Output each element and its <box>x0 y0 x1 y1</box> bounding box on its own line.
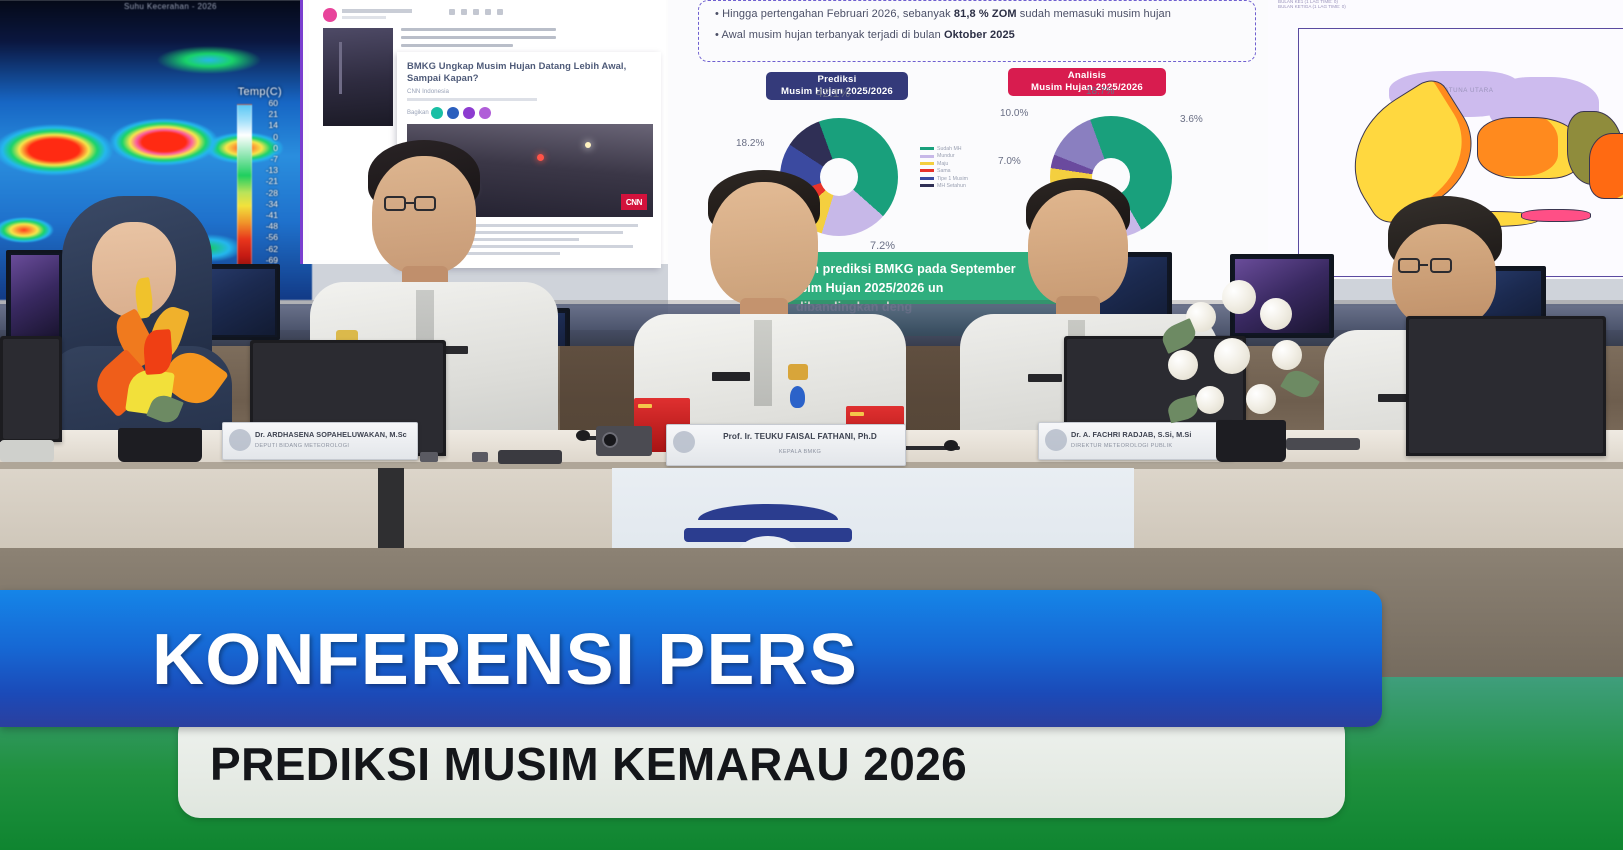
temperature-tick: -28 <box>254 188 278 199</box>
temperature-tick: -62 <box>254 244 278 255</box>
lapel-pin <box>790 386 805 408</box>
satellite-legend-title: Temp(C) <box>238 86 282 98</box>
legend-item: Sudah MH <box>920 146 968 153</box>
tablet-device[interactable] <box>1286 438 1360 450</box>
summary-bullet-1: • Hingga pertengahan Februari 2026, seba… <box>715 7 1255 22</box>
temperature-tick-labels: 60211400-7-13-21-28-34-41-48-56-62-69-75 <box>254 98 278 277</box>
article-headline: BMKG Ungkap Musim Hujan Datang Lebih Awa… <box>407 60 653 84</box>
legend-item: Maju <box>920 161 968 168</box>
back-monitor-1 <box>6 250 64 342</box>
rank-insignia <box>788 364 808 380</box>
water-glass <box>0 440 54 462</box>
eyeglasses-icon <box>1398 258 1484 274</box>
temperature-tick: -41 <box>254 210 278 221</box>
news-date-line <box>342 16 386 19</box>
name-badge <box>712 372 750 381</box>
name-badge <box>1028 374 1062 382</box>
nameplate-1: Dr. ARDHASENA SOPAHELUWAKAN, M.Sc DEPUTI… <box>222 422 418 460</box>
nameplate-3-role: DIREKTUR METEOROLOGI PUBLIK <box>1071 443 1229 449</box>
island-kalimantan <box>1477 117 1581 179</box>
bmkg-seal-icon <box>1045 429 1067 451</box>
temperature-tick: -21 <box>254 176 278 187</box>
prediction-value-18: 18.2% <box>736 138 764 149</box>
legend-item: Mundur <box>920 153 968 160</box>
bmkg-logo-bar <box>684 528 852 542</box>
share-buttons[interactable] <box>431 106 495 124</box>
temperature-tick: -7 <box>254 154 278 165</box>
laptop-3[interactable] <box>1406 316 1606 456</box>
face <box>1028 190 1128 306</box>
nameplate-2-role: KEPALA BMKG <box>699 449 901 455</box>
flower-arrangement-orange <box>92 278 232 438</box>
prediction-value-42: 42.1% <box>816 86 850 100</box>
camera-device <box>596 426 652 456</box>
temperature-tick: 0 <box>254 132 278 143</box>
broadcast-frame: Suhu Kecerahan - 2026 Temp(C) 60211400-7… <box>0 0 1623 850</box>
temperature-tick: 0 <box>254 143 278 154</box>
temperature-tick: 21 <box>254 109 278 120</box>
news-thumbnail <box>323 28 393 126</box>
pen <box>420 452 438 462</box>
flower-arrangement-white <box>1162 276 1322 436</box>
eyeglasses-icon <box>384 196 468 212</box>
legend-item: Sama <box>920 168 968 175</box>
analysis-value-10: 10.0% <box>1000 108 1028 119</box>
bmkg-logo-arc-top <box>698 504 838 520</box>
lower-third-subtitle: PREDIKSI MUSIM KEMARAU 2026 <box>210 714 1330 814</box>
bmkg-seal-icon <box>229 429 251 451</box>
remote-control[interactable] <box>472 452 488 462</box>
legend-item: MH Setahun <box>920 183 968 190</box>
mic-head-right <box>944 440 958 451</box>
analysis-value-18: 18.7% <box>1086 86 1114 97</box>
street-lamp-icon <box>585 142 591 148</box>
nameplate-2-name: Prof. Ir. TEUKU FAISAL FATHANI, Ph.D <box>699 432 901 441</box>
article-byline: CNN Indonesia <box>407 88 449 95</box>
prediction-legend: Sudah MHMundurMajuSamaTipe 1 MusimMH Set… <box>920 146 968 190</box>
analysis-value-7: 7.0% <box>998 156 1021 167</box>
avatar <box>323 8 337 22</box>
bmkg-seal-icon <box>673 431 695 453</box>
temperature-tick: 60 <box>254 98 278 109</box>
cnn-logo: CNN <box>621 194 647 210</box>
temperature-tick: -48 <box>254 221 278 232</box>
temperature-tick: -34 <box>254 199 278 210</box>
nameplate-1-role: DEPUTI BIDANG METEOROLOGI <box>255 443 413 449</box>
face <box>372 156 476 274</box>
temperature-tick: 14 <box>254 120 278 131</box>
laptop-4[interactable] <box>0 336 62 442</box>
analysis-value-3: 3.6% <box>1180 114 1203 125</box>
temperature-tick: -13 <box>254 165 278 176</box>
temperature-colorbar <box>237 104 252 274</box>
lower-third-title: KONFERENSI PERS <box>152 600 1372 720</box>
satellite-header: Suhu Kecerahan - 2026 <box>124 2 217 11</box>
news-toolbar-icons <box>449 2 509 8</box>
face <box>1392 224 1496 328</box>
nameplate-1-name: Dr. ARDHASENA SOPAHELUWAKAN, M.Sc <box>255 430 413 439</box>
temperature-tick: -56 <box>254 232 278 243</box>
shirt-placket <box>754 320 772 406</box>
legend-item: Tipe 1 Musim <box>920 176 968 183</box>
summary-callout-box: • Hingga pertengahan Februari 2026, seba… <box>698 0 1256 62</box>
mic-head-left <box>576 430 590 441</box>
nameplate-2: Prof. Ir. TEUKU FAISAL FATHANI, Ph.D KEP… <box>666 424 906 466</box>
island-sulawesi-south <box>1589 133 1623 199</box>
map-legend-line: BULAN KETIGA (1 LAG TIME: 0) <box>1278 4 1528 9</box>
news-author-line <box>342 9 412 13</box>
summary-bullet-2: • Awal musim hujan terbanyak terjadi di … <box>715 28 1255 43</box>
share-label: Bagikan : <box>407 110 432 116</box>
smartphone[interactable] <box>498 450 562 464</box>
article-meta-line <box>407 98 537 101</box>
face <box>710 182 818 306</box>
map-legend: BULAN PUNCAK (1 LAG TIME: 0)BULAN KE1 (1… <box>1278 0 1528 20</box>
